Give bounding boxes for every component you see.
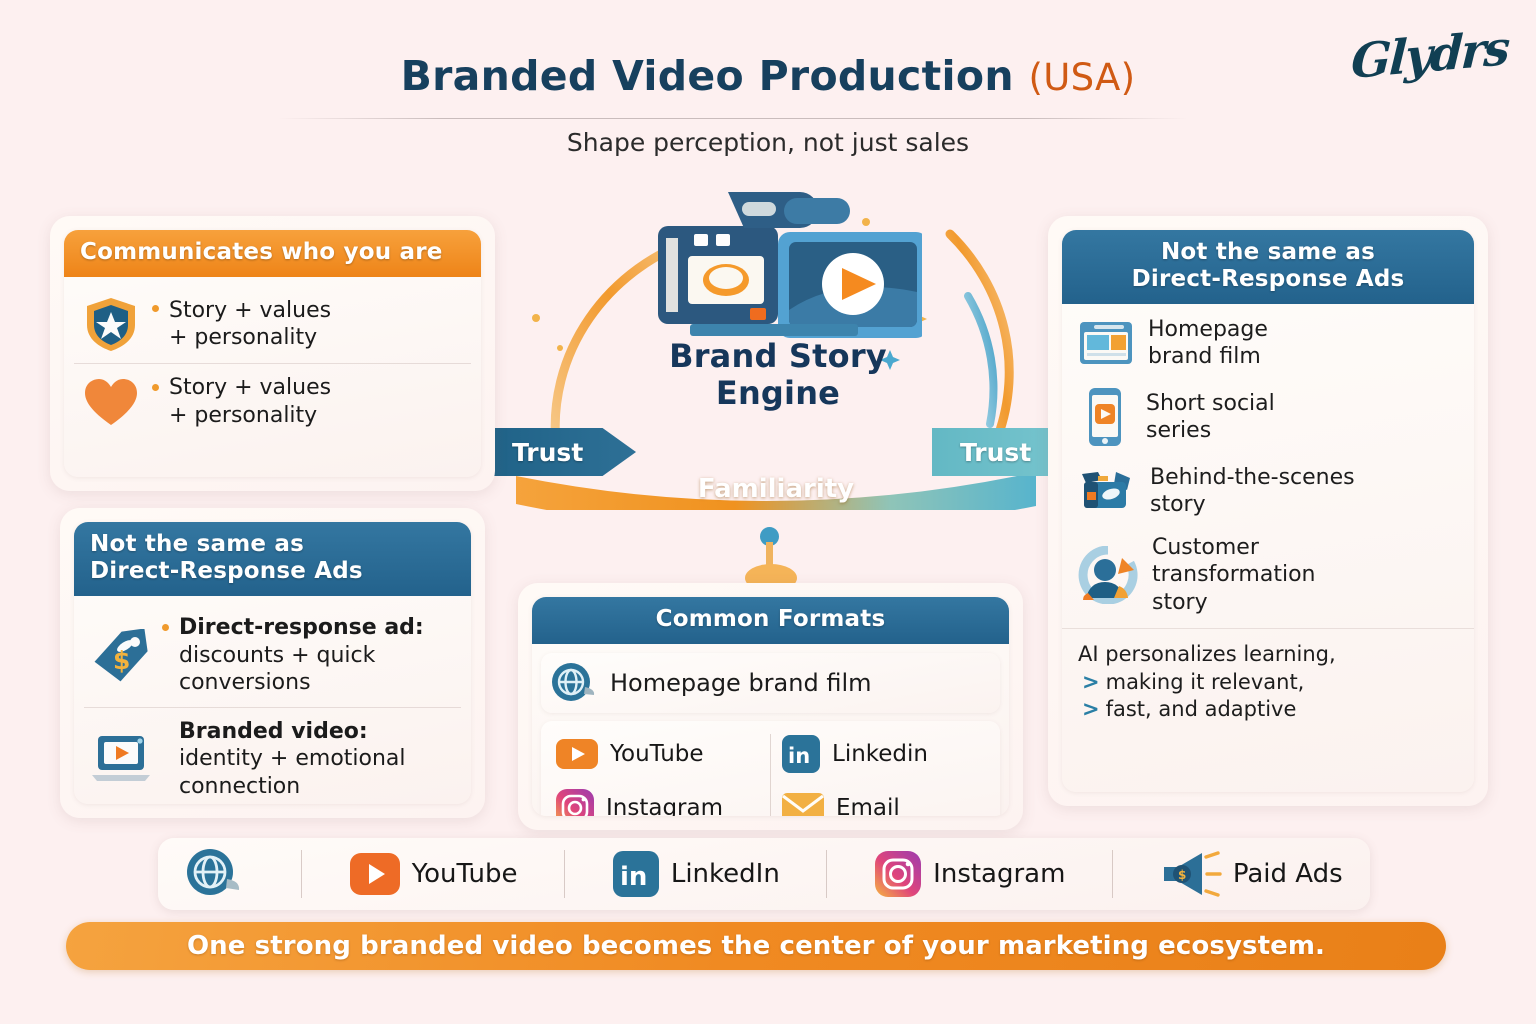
- format-featured-label: Homepage brand film: [610, 669, 872, 697]
- platform-item-youtube[interactable]: YouTube: [341, 852, 526, 896]
- video-camera-icon: [632, 190, 922, 350]
- format-item-linkedin[interactable]: in Linkedin: [771, 727, 996, 781]
- page-subtitle: Shape perception, not just sales: [0, 128, 1536, 157]
- megaphone-icon: $: [1160, 849, 1222, 899]
- laptop-play-icon: [90, 733, 152, 785]
- hub-title-line1: Brand Story: [669, 337, 887, 375]
- svg-text:in: in: [620, 862, 647, 892]
- platform-divider: [1112, 850, 1113, 898]
- platform-divider: [564, 850, 565, 898]
- list-item[interactable]: Branded video: identity + emotional conn…: [84, 707, 461, 804]
- list-item-text: Customer transformation story: [1152, 534, 1315, 615]
- shield-star-icon: [80, 295, 142, 353]
- format-platform-grid: YouTube in Linkedin: [541, 721, 1000, 816]
- cta-banner: One strong branded video becomes the cen…: [66, 922, 1446, 970]
- svg-text:in: in: [788, 744, 810, 768]
- svg-text:$: $: [113, 646, 130, 675]
- platform-label: LinkedIn: [671, 859, 780, 889]
- list-item-text: Short social series: [1146, 390, 1275, 444]
- title-divider: [278, 118, 1188, 119]
- list-item[interactable]: Short social series: [1078, 378, 1462, 456]
- card-not-same-left-heading: Not the same as Direct-Response Ads: [74, 522, 471, 596]
- youtube-icon: [349, 852, 401, 896]
- card-not-same-as-direct-response-left[interactable]: Not the same as Direct-Response Ads $: [60, 508, 485, 818]
- camcorder-icon: [1078, 468, 1136, 514]
- bullet-dot: [162, 624, 169, 631]
- card-common-formats[interactable]: Common Formats Homepage brand film: [518, 583, 1023, 830]
- globe-icon: [551, 662, 597, 704]
- platform-item-instagram[interactable]: Instagram: [866, 850, 1073, 898]
- heart-icon: [80, 377, 142, 427]
- chevron-right-icon: >: [1082, 697, 1100, 721]
- browser-window-icon: [1078, 320, 1134, 366]
- hub-title: Brand Story Engine: [498, 338, 1058, 412]
- platform-label: YouTube: [412, 859, 518, 889]
- card-communicates-who-you-are[interactable]: Communicates who you are Story + values …: [50, 216, 495, 491]
- card-not-same-right-heading: Not the same as Direct-Response Ads: [1062, 230, 1474, 304]
- infographic-canvas: Branded Video Production (USA) Shape per…: [0, 0, 1536, 1024]
- linkedin-icon: in: [612, 850, 660, 898]
- familiarity-label: Familiarity: [516, 474, 1036, 504]
- list-item[interactable]: Behind-the-scenes story: [1078, 456, 1462, 526]
- list-item-text: Branded video: identity + emotional conn…: [179, 718, 406, 801]
- page-title-main: Branded Video Production: [401, 52, 1014, 100]
- linkedin-icon: in: [781, 734, 821, 774]
- card-not-same-right-footer: AI personalizes learning, >making it rel…: [1062, 628, 1474, 733]
- svg-text:$: $: [1178, 868, 1186, 882]
- list-item[interactable]: Homepage brand film: [1078, 308, 1462, 378]
- list-item[interactable]: Story + values + personality: [74, 285, 471, 363]
- globe-icon: [185, 847, 243, 901]
- list-item-text: Homepage brand film: [1148, 316, 1268, 370]
- format-item-youtube[interactable]: YouTube: [545, 731, 770, 777]
- mobile-play-icon: [1078, 386, 1132, 448]
- format-featured-row[interactable]: Homepage brand film: [541, 653, 1000, 713]
- platform-label: Paid Ads: [1233, 859, 1343, 889]
- list-item-text: Story + values + personality: [169, 297, 331, 352]
- card-formats-heading: Common Formats: [532, 597, 1009, 644]
- footer-line-3: >fast, and adaptive: [1082, 696, 1460, 724]
- footer-line-2: >making it relevant,: [1082, 669, 1460, 697]
- trust-right-label: Trust: [960, 438, 1031, 467]
- platform-label: Instagram: [933, 859, 1065, 889]
- bullet-dot: [152, 384, 159, 391]
- platform-item-paid-ads[interactable]: $ Paid Ads: [1152, 849, 1351, 899]
- list-item-text: Behind-the-scenes story: [1150, 464, 1355, 518]
- list-item[interactable]: Customer transformation story: [1078, 526, 1462, 623]
- youtube-icon: [555, 738, 599, 770]
- trust-left-label: Trust: [512, 438, 583, 467]
- list-item[interactable]: Story + values + personality: [74, 363, 471, 439]
- list-item-text: Direct-response ad: discounts + quick co…: [179, 614, 424, 697]
- page-title-region: (USA): [1028, 56, 1135, 99]
- hub-title-line2: Engine: [716, 374, 840, 412]
- platform-item-linkedin[interactable]: in LinkedIn: [604, 850, 788, 898]
- chevron-right-icon: >: [1082, 670, 1100, 694]
- bullet-dot: [152, 305, 159, 312]
- platform-bar: YouTube in LinkedIn: [158, 838, 1370, 910]
- instagram-icon: [555, 788, 595, 816]
- email-icon: [781, 792, 825, 816]
- card-not-same-as-direct-response-right[interactable]: Not the same as Direct-Response Ads: [1048, 216, 1488, 806]
- platform-item-globe[interactable]: [177, 847, 262, 901]
- platform-divider: [301, 850, 302, 898]
- footer-line-1: AI personalizes learning,: [1078, 641, 1460, 669]
- instagram-icon: [874, 850, 922, 898]
- customer-cycle-icon: [1078, 546, 1138, 604]
- card-communicates-heading: Communicates who you are: [64, 230, 481, 277]
- page-title: Branded Video Production (USA): [0, 52, 1536, 100]
- platform-divider: [826, 850, 827, 898]
- format-item-instagram[interactable]: Instagram: [545, 781, 770, 816]
- list-item[interactable]: $ Direct-response ad: discounts + quick …: [84, 604, 461, 707]
- price-tag-dollar-icon: $: [90, 629, 152, 683]
- list-item-text: Story + values + personality: [169, 374, 331, 429]
- format-item-email[interactable]: Email: [771, 785, 996, 816]
